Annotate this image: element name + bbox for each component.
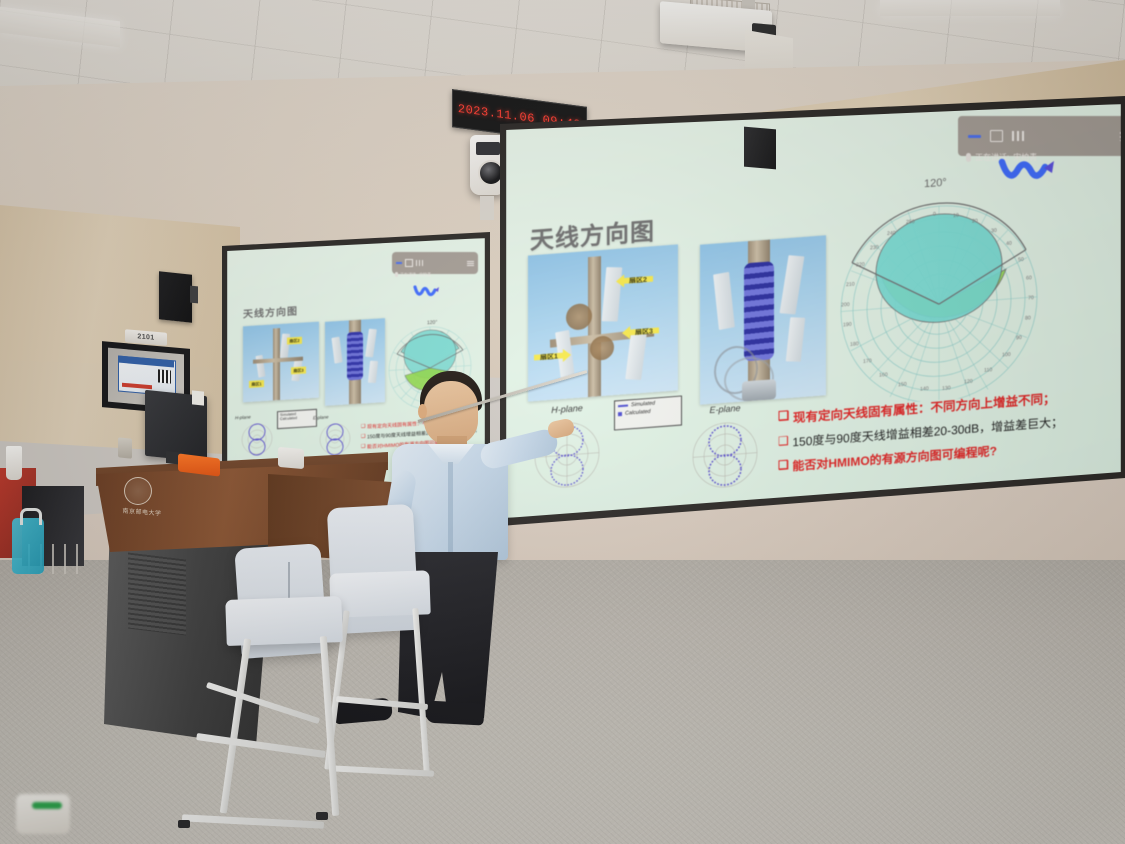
svg-text:80: 80 (1025, 315, 1031, 321)
bullet-marker-icon: ❑ (778, 458, 789, 473)
svg-text:140: 140 (920, 386, 929, 393)
water-jug (12, 518, 44, 574)
ceiling-light (880, 0, 1060, 16)
legend-simulated: Simulated (631, 400, 655, 408)
sector-label-1-text: 扇区1 (540, 351, 558, 362)
svg-text:30: 30 (991, 228, 997, 234)
wall-speaker (744, 127, 776, 170)
bullet-marker-icon: ❑ (361, 424, 365, 430)
speaker-bracket (190, 286, 198, 304)
left-slide-photo-1: 扇区2 扇区3 扇区1 (243, 322, 319, 403)
svg-text:250: 250 (906, 219, 915, 226)
classroom-scene: 2023.11.06 09:48 2101 正在讲话: 宋柏青 (0, 0, 1125, 844)
svg-text:40: 40 (1006, 241, 1012, 247)
left-sector-label-2: 扇区2 (287, 337, 302, 345)
svg-text:170: 170 (863, 358, 872, 365)
ptz-camera-screen (476, 142, 500, 155)
svg-text:210: 210 (846, 281, 855, 288)
svg-text:10: 10 (953, 213, 959, 219)
left-slide-hplane: H-plane (235, 413, 279, 464)
svg-text:150: 150 (898, 382, 907, 389)
left-slide-title: 天线方向图 (243, 302, 298, 320)
stool-floor-glide (178, 820, 190, 828)
desk-clutter (118, 437, 132, 458)
bottle-cap (16, 794, 70, 834)
legend-line-swatch (618, 405, 628, 407)
paper-cups-stack (6, 446, 22, 480)
main-projection-screen[interactable]: 正在讲话: 宋柏青 天线方向图 扇区2 (506, 104, 1121, 518)
left-polar-annotation: 120° (427, 320, 437, 327)
svg-text:180: 180 (850, 341, 859, 348)
university-crest-icon (124, 477, 152, 505)
presenter-shirt-placket (448, 462, 453, 560)
legend-calculated: Calculated (625, 409, 650, 417)
svg-text:60: 60 (1026, 275, 1032, 281)
monitor-tag (192, 390, 204, 405)
lectern-vent (128, 552, 186, 635)
left-sector-label-3: 扇区3 (291, 366, 306, 374)
left-sector-label-1: 扇区1 (249, 380, 264, 388)
svg-text:120: 120 (964, 379, 973, 386)
slide-bullet-list: ❑ 现有定向天线固有属性：不同方向上增益不同； ❑ 150度与90度天线增益相差… (778, 384, 1108, 476)
polar-radiation-chart: 01020 304050 607080 90100110 120130140 1… (836, 162, 1046, 408)
camera-bracket (480, 196, 494, 220)
svg-text:90: 90 (1016, 335, 1022, 341)
svg-text:200: 200 (841, 302, 850, 309)
bar-stool-back-slot (288, 562, 290, 602)
stool-floor-glide (316, 812, 328, 820)
left-legend-calculated: Calculated (280, 415, 314, 421)
poster-qr-code (158, 369, 171, 383)
legend-dot-swatch (618, 412, 622, 416)
bullet-marker-icon: ❑ (778, 408, 789, 424)
eplane-chart: E-plane (682, 401, 768, 503)
bottle-cap-label (32, 802, 62, 809)
left-slide-legend: Simulated Calculated (277, 409, 317, 429)
tissue-box (278, 447, 304, 469)
svg-text:20: 20 (972, 218, 978, 224)
antenna-photo-right (700, 235, 826, 404)
svg-text:50: 50 (1018, 257, 1024, 263)
bullet-marker-icon: ❑ (778, 434, 789, 449)
svg-text:190: 190 (843, 322, 852, 329)
bullet-marker-icon: ❑ (361, 444, 365, 450)
presenter-shoe-right (425, 700, 484, 725)
antenna-photo-left: 扇区2 扇区3 扇区1 (528, 244, 678, 401)
water-jug-handle (20, 508, 42, 525)
svg-text:0: 0 (933, 211, 936, 217)
svg-text:240: 240 (887, 230, 896, 237)
svg-text:100: 100 (1002, 352, 1011, 359)
room-sign-text: 2101 (137, 333, 154, 342)
svg-text:70: 70 (1028, 295, 1034, 301)
svg-text:130: 130 (942, 385, 951, 392)
svg-text:230: 230 (870, 245, 879, 252)
sector-label-2-text: 扇区2 (629, 274, 647, 285)
wall-speaker (159, 271, 192, 322)
left-slide-photo-2 (325, 318, 385, 406)
svg-text:220: 220 (856, 262, 865, 269)
main-slide: 天线方向图 扇区2 扇区3 扇区1 (506, 104, 1121, 518)
chart-legend: Simulated Calculated (614, 395, 682, 430)
polar-annotation-text: 120° (924, 177, 947, 191)
bullet-marker-icon: ❑ (361, 434, 365, 440)
svg-text:110: 110 (984, 367, 992, 374)
svg-text:160: 160 (879, 372, 888, 379)
